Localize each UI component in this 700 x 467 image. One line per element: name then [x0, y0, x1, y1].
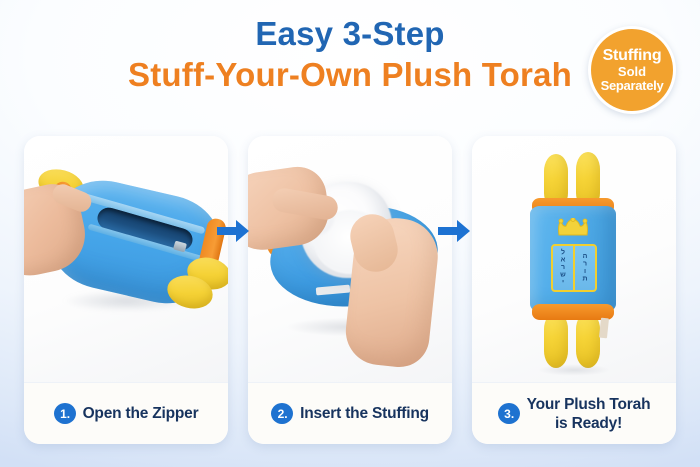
arrow-right-icon [216, 218, 250, 244]
step-1-photo [24, 136, 228, 382]
step-number-badge: 3. [498, 403, 520, 424]
tablet-left: ישראל [553, 246, 575, 290]
tablet-left-hebrew-text: ישראל [560, 249, 567, 287]
step-2-photo [248, 136, 452, 382]
step-3-caption: 3. Your Plush Torah is Ready! [472, 382, 676, 444]
tablet-right-hebrew-text: תורה [582, 253, 589, 283]
step-number-badge: 2. [271, 403, 293, 424]
step-caption-text: Insert the Stuffing [300, 404, 429, 423]
infographic-root: Easy 3-Step Stuff-Your-Own Plush Torah S… [0, 0, 700, 467]
step-caption-line-1: Your Plush Torah [527, 395, 651, 414]
step-caption-line-2: is Ready! [527, 414, 651, 433]
badge-line-2: Sold [618, 65, 646, 78]
step-number-badge: 1. [54, 403, 76, 424]
steps-row: 1. Open the Zipper 2. In [24, 136, 676, 444]
tablet-right: תורה [575, 246, 595, 290]
step-card-3: ישראל תורה 3. Your Plush Torah is Ready! [472, 136, 676, 444]
step-caption-text: Open the Zipper [83, 404, 199, 423]
badge-line-1: Stuffing [603, 48, 662, 64]
torah-handle-bottom-right [576, 312, 600, 368]
step-3-photo: ישראל תורה [472, 136, 676, 382]
torah-handle-bottom-left [544, 312, 568, 368]
badge-line-3: Separately [601, 79, 664, 92]
step-card-2: 2. Insert the Stuffing [248, 136, 452, 444]
product-shadow [524, 362, 624, 378]
stuffing-sold-separately-badge: Stuffing Sold Separately [588, 26, 676, 114]
step-2-caption: 2. Insert the Stuffing [248, 382, 452, 444]
arrow-right-icon [437, 218, 471, 244]
step-caption-text: Your Plush Torah is Ready! [527, 395, 651, 433]
step-1-caption: 1. Open the Zipper [24, 382, 228, 444]
crown-icon [556, 218, 590, 236]
step-card-1: 1. Open the Zipper [24, 136, 228, 444]
finished-plush-torah: ישראל תורה [472, 136, 676, 382]
torah-tablets-patch: ישראל תורה [551, 244, 597, 292]
care-label [599, 318, 609, 339]
